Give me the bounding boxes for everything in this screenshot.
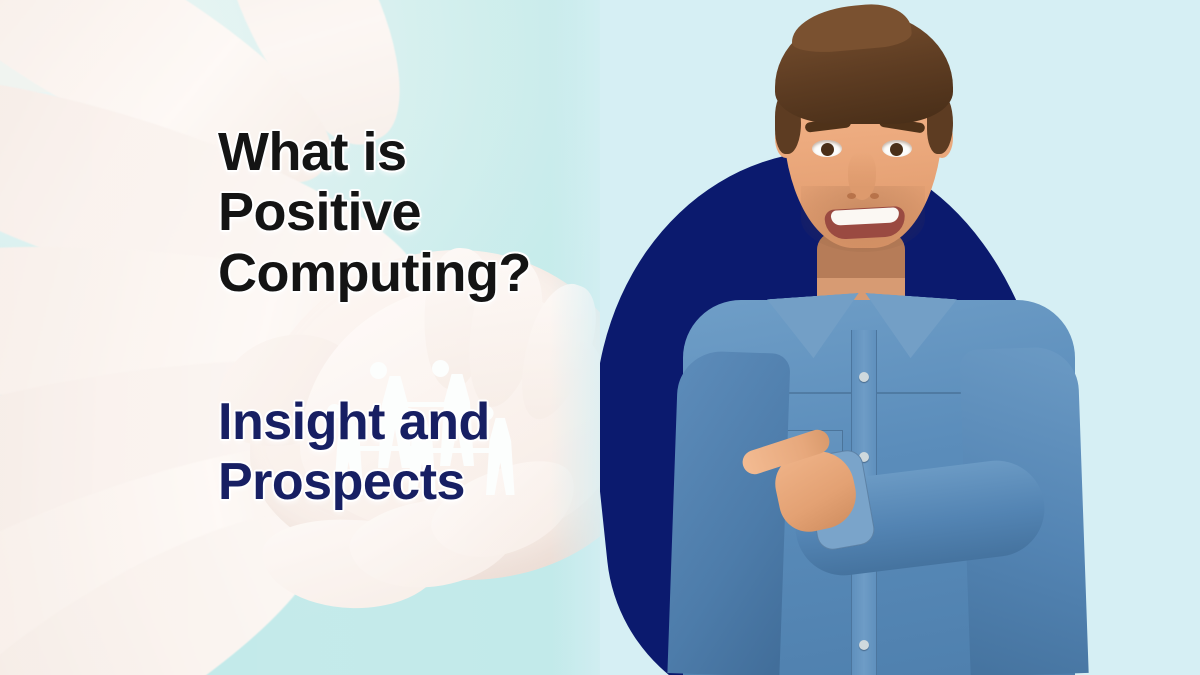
nostril-left: [847, 193, 856, 199]
pupil-left: [821, 143, 834, 156]
shirt-button: [859, 640, 869, 650]
headline-line-1: What is: [218, 122, 608, 182]
shirt-button: [859, 372, 869, 382]
headline: What is Positive Computing?: [218, 122, 608, 303]
person-photo: [665, 0, 1085, 675]
promo-banner: What is Positive Computing? Insight and …: [0, 0, 1200, 675]
nostril-right: [870, 193, 879, 199]
shirt-sleeve-left: [667, 350, 790, 675]
headline-line-2: Positive: [218, 182, 608, 242]
subheadline-line-1: Insight and: [218, 392, 608, 452]
subheadline: Insight and Prospects: [218, 392, 608, 513]
photo-desaturation-overlay: [0, 0, 620, 675]
headline-line-3: Computing?: [218, 243, 608, 303]
pupil-right: [890, 143, 903, 156]
hands-photo: [0, 0, 620, 675]
subheadline-line-2: Prospects: [218, 452, 608, 512]
